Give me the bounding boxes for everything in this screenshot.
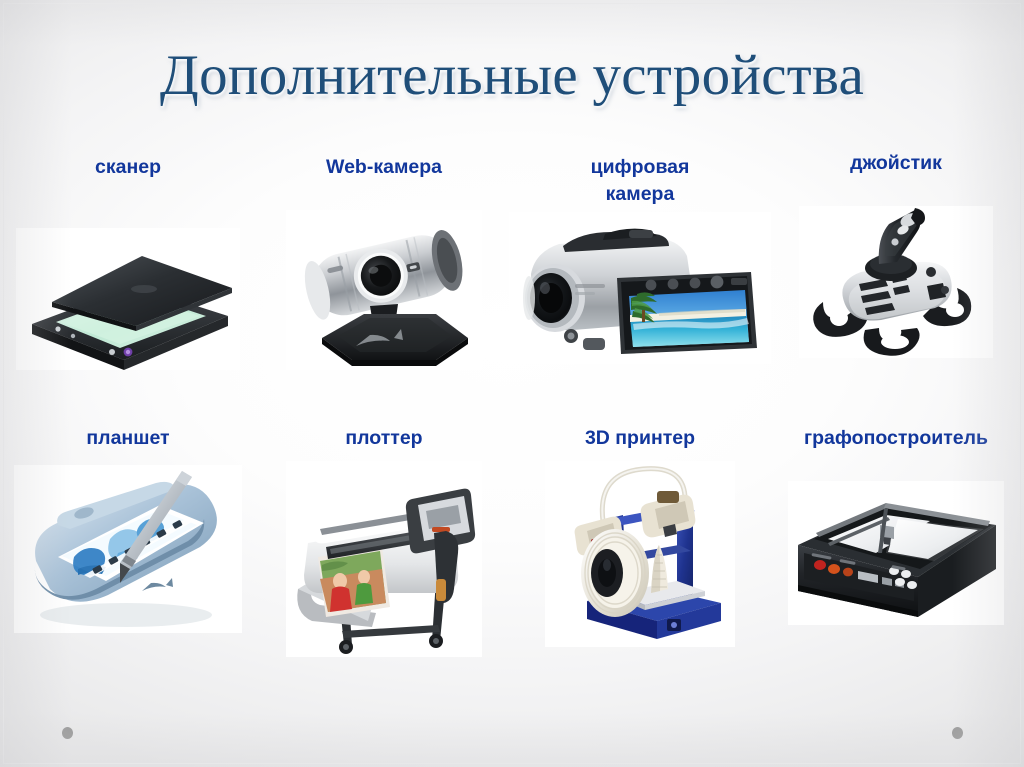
device-card-plotter[interactable]: плоттер (256, 425, 512, 665)
device-card-webcam[interactable]: Web-камера (256, 150, 512, 380)
device-card-digital-camera[interactable]: цифровая камера (512, 150, 768, 380)
device-label-joystick: джойстик (850, 150, 942, 210)
device-card-scanner[interactable]: сканер (0, 150, 256, 380)
device-row-2: планшет (0, 425, 1024, 665)
device-label-plotter: плоттер (345, 425, 422, 459)
device-label-scanner: сканер (95, 150, 161, 214)
nav-dot-right[interactable] (952, 727, 963, 739)
device-card-3d-printer[interactable]: 3D принтер (512, 425, 768, 665)
slide-canvas: Дополнительные устройства сканер (0, 0, 1024, 767)
3d-printer-photo (545, 461, 735, 647)
device-card-tablet[interactable]: планшет (0, 425, 256, 665)
webcam-photo (286, 210, 482, 370)
digital-camcorder-photo (509, 212, 771, 364)
graphics-tablet-photo (14, 465, 242, 633)
device-label-3d-printer: 3D принтер (585, 425, 695, 459)
graph-plotter-photo (788, 481, 1004, 625)
device-card-graph-plotter[interactable]: графопостроитель (768, 425, 1024, 665)
device-label-webcam: Web-камера (326, 150, 442, 214)
joystick-photo (799, 206, 993, 358)
nav-dot-left[interactable] (62, 727, 73, 739)
device-row-1: сканер (0, 150, 1024, 380)
flatbed-scanner-photo (16, 228, 240, 370)
device-label-graph-plotter: графопостроитель (804, 425, 988, 459)
large-format-plotter-photo (286, 461, 482, 657)
device-label-digital-camera: цифровая камера (591, 150, 690, 214)
device-card-joystick[interactable]: джойстик (768, 150, 1024, 380)
device-label-tablet: планшет (86, 425, 169, 459)
page-title: Дополнительные устройства (0, 44, 1024, 108)
